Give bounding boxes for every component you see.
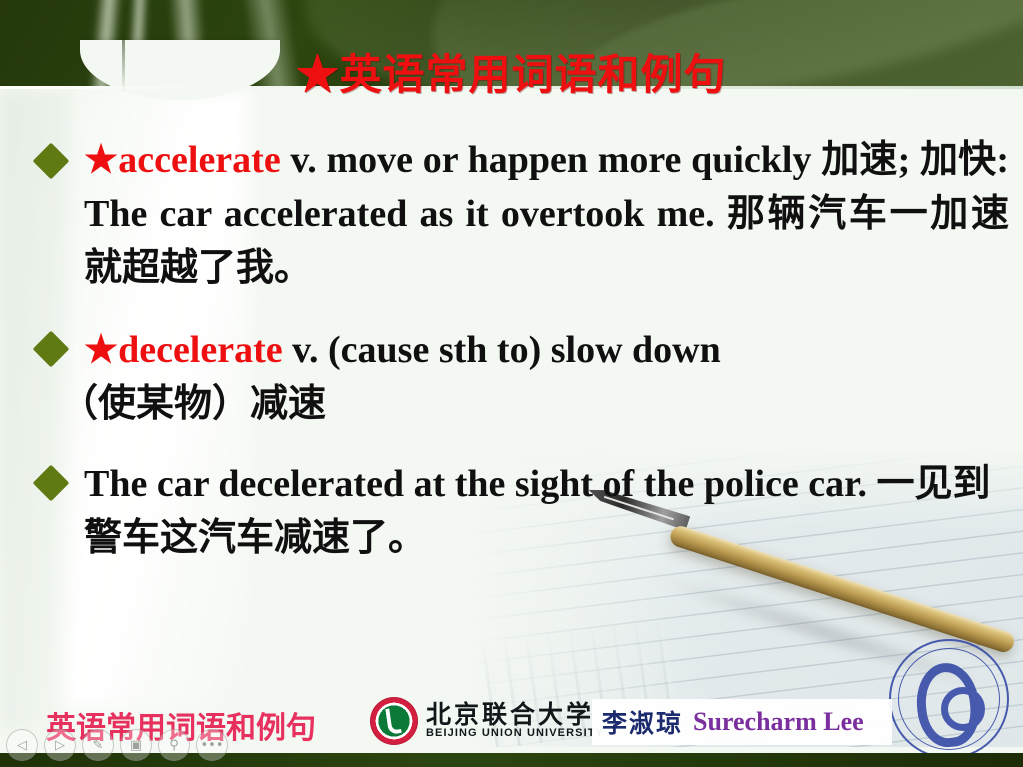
slide-content: ★accelerate v. move or happen more quick…: [0, 118, 1023, 576]
university-name-block: 北京联合大学 BEIJING UNION UNIVERSITY: [426, 702, 604, 740]
definition-decelerate-line2: （使某物）减速: [60, 378, 1009, 432]
bullet-text-accelerate: ★accelerate v. move or happen more quick…: [30, 134, 1009, 296]
previous-slide-button[interactable]: ◁: [6, 729, 38, 761]
definition-decelerate: v. (cause sth to) slow down: [283, 329, 721, 371]
pen-tool-button[interactable]: ✎: [82, 729, 114, 761]
zoom-button[interactable]: ⚲: [158, 729, 190, 761]
author-plate: 李淑琼 Surecharm Lee: [592, 699, 892, 745]
university-logo: 北京联合大学 BEIJING UNION UNIVERSITY: [370, 697, 604, 745]
page-fold-crease: [122, 40, 125, 92]
university-name-cn: 北京联合大学: [426, 702, 604, 728]
university-seal-icon: [370, 697, 418, 745]
page-title: ★英语常用词语和例句: [0, 28, 1023, 114]
slideshow-controls[interactable]: ◁ ▷ ✎ ▣ ⚲ •••: [6, 729, 228, 761]
slide-menu-button[interactable]: ▣: [120, 729, 152, 761]
author-name-en: Surecharm Lee: [693, 707, 864, 737]
next-slide-button[interactable]: ▷: [44, 729, 76, 761]
bullet-item-accelerate: ★accelerate v. move or happen more quick…: [0, 134, 1023, 296]
keyword-decelerate: decelerate: [118, 329, 283, 371]
bullet-item-decelerate: ★decelerate v. (cause sth to) slow down（…: [0, 324, 1023, 432]
bullet-item-example: The car decelerated at the sight of the …: [0, 458, 1023, 566]
star-icon-decelerate: ★: [84, 329, 118, 371]
university-name-en: BEIJING UNION UNIVERSITY: [426, 728, 604, 740]
example-sentence: The car decelerated at the sight of the …: [84, 463, 991, 559]
author-name-cn: 李淑琼: [602, 704, 683, 740]
bullet-text-example: The car decelerated at the sight of the …: [30, 458, 1009, 566]
presentation-slide: ★英语常用词语和例句 ★accelerate v. move or happen…: [0, 0, 1023, 767]
more-options-button[interactable]: •••: [196, 729, 228, 761]
keyword-accelerate: accelerate: [118, 139, 280, 181]
star-icon-accelerate: ★: [84, 139, 118, 181]
bullet-text-decelerate: ★decelerate v. (cause sth to) slow down（…: [30, 324, 1009, 432]
